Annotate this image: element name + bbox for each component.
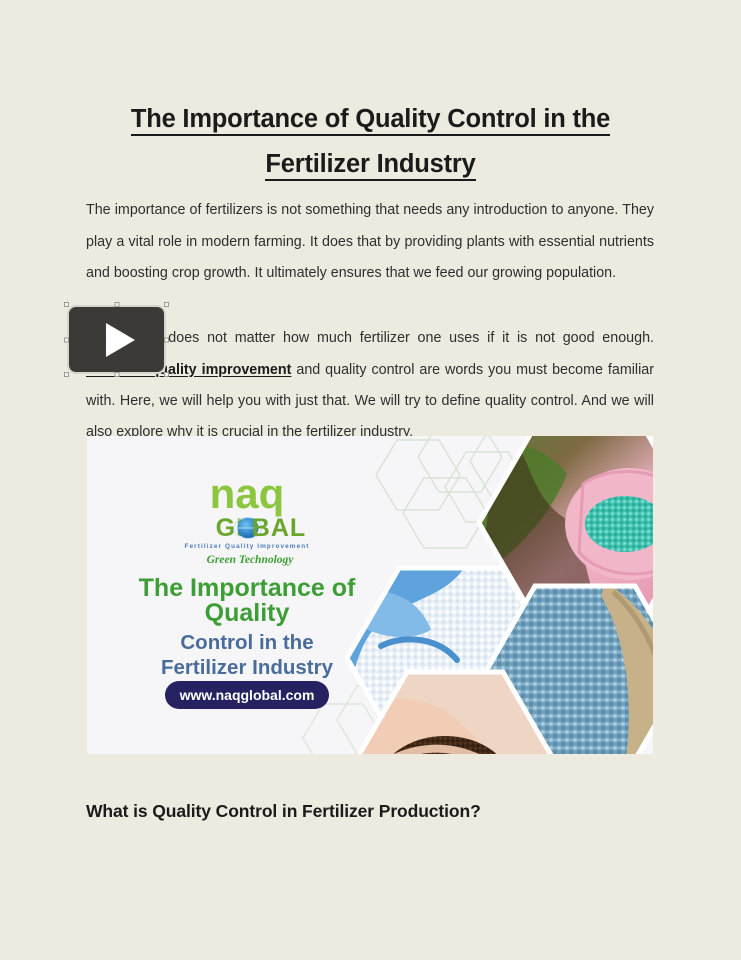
resize-handle-bottom-right[interactable]: [164, 372, 169, 377]
resize-handle-top-center[interactable]: [114, 302, 119, 307]
body-paragraph-1: The importance of fertilizers is not som…: [86, 195, 654, 289]
resize-handle-middle-left[interactable]: [64, 337, 69, 342]
paragraph-2-lead: However, it does not matter how much fer…: [86, 330, 654, 346]
resize-handle-top-left[interactable]: [64, 302, 69, 307]
play-icon[interactable]: [105, 323, 134, 357]
url-badge-label: www.naqglobal.com: [179, 687, 315, 703]
resize-handle-bottom-left[interactable]: [64, 372, 69, 377]
banner-graphic: naq GL BAL Fertilizer Quality Improvemen…: [87, 436, 653, 754]
resize-handle-top-right[interactable]: [164, 302, 169, 307]
banner-headline-blue-line2: Fertilizer Industry: [161, 656, 334, 679]
article-banner-image[interactable]: naq GL BAL Fertilizer Quality Improvemen…: [87, 436, 653, 754]
resize-handle-middle-right[interactable]: [164, 337, 169, 342]
logo-brand-text: naq: [210, 470, 285, 517]
logo-tagline: Fertilizer Quality Improvement: [185, 543, 310, 550]
section-heading: What is Quality Control in Fertilizer Pr…: [86, 801, 654, 822]
resize-handle-bottom-center[interactable]: [114, 372, 119, 377]
logo-sub-right: BAL: [252, 514, 306, 542]
page-title-text: The Importance of Quality Control in the…: [131, 105, 610, 181]
logo-slogan: Green Technology: [207, 554, 295, 566]
page-title: The Importance of Quality Control in the…: [86, 97, 655, 187]
banner-headline-green-line2: Quality: [205, 599, 290, 627]
video-play-overlay[interactable]: [67, 305, 166, 374]
play-button-frame[interactable]: [67, 305, 166, 374]
document-page: The Importance of Quality Control in the…: [0, 0, 741, 960]
body-paragraph-2: However, it does not matter how much fer…: [86, 323, 654, 448]
banner-headline-blue-line1: Control in the: [180, 631, 313, 654]
banner-headline-green-line1: The Importance of: [139, 574, 356, 602]
